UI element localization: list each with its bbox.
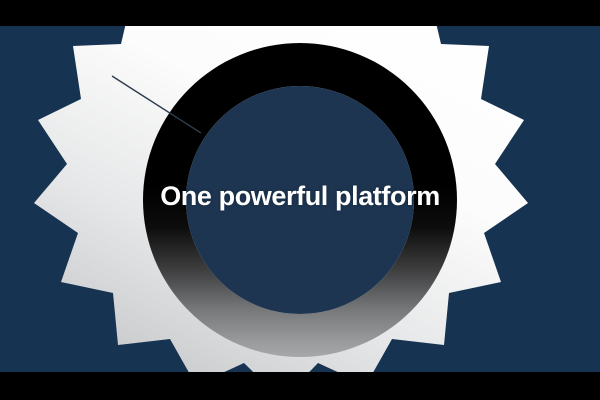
inner-disc	[186, 86, 414, 314]
gear-diagram-svg	[0, 26, 600, 372]
gear-diagram	[0, 26, 600, 372]
letterbox-bottom	[0, 372, 600, 400]
video-frame: One powerful platform	[0, 26, 600, 372]
letterbox-top	[0, 0, 600, 26]
video-still: One powerful platform	[0, 0, 600, 400]
